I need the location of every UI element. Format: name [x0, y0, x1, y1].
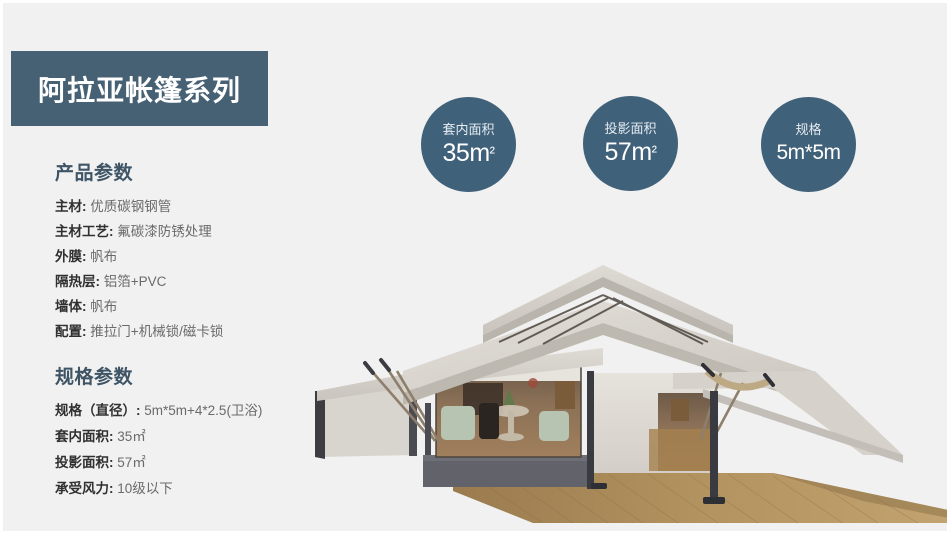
tent-illustration: 喜利篷房 SHINE TENT	[303, 243, 950, 523]
badge-dimensions: 规格 5m*5m	[761, 97, 856, 192]
badge-value: 5m*5m	[776, 139, 840, 167]
title-banner: 阿拉亚帐篷系列	[11, 51, 268, 126]
right-cabinet	[671, 399, 689, 421]
list-item: 主材工艺: 氟碳漆防锈处理	[55, 219, 355, 244]
spec-value: 35㎡	[117, 429, 146, 444]
page-title: 阿拉亚帐篷系列	[38, 69, 241, 109]
badge-number: 35m	[443, 139, 490, 167]
badge-superscript: ²	[652, 144, 657, 161]
left-panel-post	[315, 391, 325, 459]
badge-interior-area: 套内面积 35m²	[421, 97, 516, 192]
spec-value: 氟碳漆防锈处理	[117, 224, 212, 239]
spec-label: 套内面积:	[55, 429, 114, 444]
list-item: 主材: 优质碳钢钢管	[55, 194, 355, 219]
spec-value: 铝箔+PVC	[104, 274, 167, 289]
spec-label: 配置:	[55, 324, 87, 339]
spec-label: 承受风力:	[55, 481, 114, 496]
tent-vector	[303, 243, 950, 523]
post-base-right	[703, 497, 725, 504]
section-heading-product: 产品参数	[55, 158, 355, 185]
rope-anchors	[365, 360, 389, 373]
spec-label: 规格（直径）:	[55, 403, 141, 418]
support-post-center	[587, 371, 594, 489]
badge-value: 35m²	[443, 139, 495, 167]
post-base-center	[591, 483, 607, 489]
badge-projected-area: 投影面积 57m²	[583, 96, 678, 191]
support-post-left	[425, 403, 431, 455]
badge-superscript: ²	[490, 145, 495, 162]
spec-value: 帆布	[90, 249, 117, 264]
spec-label: 外膜:	[55, 249, 87, 264]
badge-label: 规格	[795, 122, 821, 138]
spec-value: 推拉门+机械锁/磁卡锁	[90, 324, 223, 339]
spec-label: 墙体:	[55, 299, 87, 314]
spec-value: 优质碳钢钢管	[90, 199, 171, 214]
support-post-right	[710, 391, 718, 503]
spec-label: 投影面积:	[55, 455, 114, 470]
spec-value: 帆布	[90, 299, 117, 314]
spec-label: 主材工艺:	[55, 224, 114, 239]
badge-number: 57m	[605, 138, 652, 166]
spec-value: 10级以下	[117, 481, 173, 496]
spec-value: 5m*5m+4*2.5(卫浴)	[144, 403, 262, 418]
badge-value: 57m²	[605, 138, 657, 166]
spec-label: 隔热层:	[55, 274, 100, 289]
badge-number: 5m*5m	[776, 141, 840, 164]
spec-label: 主材:	[55, 199, 87, 214]
product-spec-page: 阿拉亚帐篷系列 产品参数 主材: 优质碳钢钢管 主材工艺: 氟碳漆防锈处理 外膜…	[0, 0, 950, 534]
badge-label: 投影面积	[604, 121, 656, 137]
spec-value: 57㎡	[117, 455, 146, 470]
badge-label: 套内面积	[442, 122, 494, 138]
